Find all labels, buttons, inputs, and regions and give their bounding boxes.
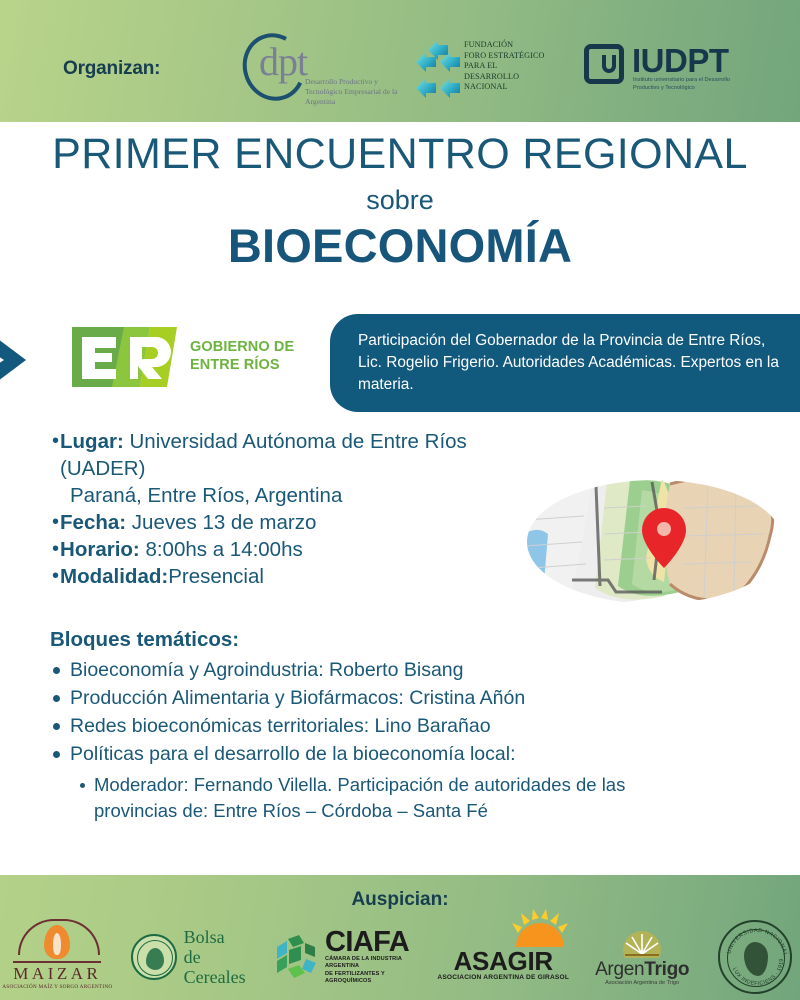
er-logo-icon — [72, 327, 177, 387]
er-government-label: GOBIERNO DE ENTRE RÍOS — [190, 338, 294, 374]
entre-rios-banner: GOBIERNO DE ENTRE RÍOS Participación del… — [0, 312, 800, 404]
detail-key: Lugar: — [60, 430, 124, 453]
ciafa-subtitle-1: CÁMARA DE LA INDUSTRIA ARGENTINA — [325, 956, 417, 971]
argentrigo-subtitle: Asociación Argentina de Trigo — [605, 980, 679, 986]
unl-seal-icon: UNIVERSIDAD NACIONAL DEL LITORAL LUX IND… — [718, 920, 792, 994]
bullet-icon: • — [52, 428, 59, 455]
iudpt-wordmark: IUDPT — [632, 42, 729, 80]
sponsor-ciafa: CIAFA CÁMARA DE LA INDUSTRIA ARGENTINA D… — [271, 919, 417, 995]
dpt-subtitle: Desarrollo Productivo y Tecnológico Empr… — [305, 77, 405, 107]
title-zone: PRIMER ENCUENTRO REGIONAL sobre BIOECONO… — [0, 130, 800, 273]
maizar-subtitle: ASOCIACIÓN MAÍZ Y SORGO ARGENTINO — [2, 984, 112, 990]
footer-band: Auspician: MAIZAR ASOCIACIÓN MAÍZ Y SORG… — [0, 875, 800, 1000]
header-band: Organizan: dpt Desarrollo Productivo y T… — [0, 0, 800, 122]
ciafa-subtitle-2: DE FERTILIZANTES Y AGROQUÍMICOS — [325, 971, 417, 986]
block-item-label: Redes bioeconómicas territoriales: Lino … — [70, 712, 491, 740]
sponsor-universidad-nacional-del-litoral: UNIVERSIDAD NACIONAL DEL LITORAL LUX IND… — [711, 919, 800, 995]
argentrigo-wheat-icon — [619, 928, 665, 958]
sponsor-asagir: ASAGIR ASOCIACION ARGENTINA DE GIRASOL — [433, 919, 574, 995]
detail-value: Presencial — [168, 565, 264, 588]
poster-topic: BIOECONOMÍA — [0, 218, 800, 273]
svg-text:UNIVERSIDAD NACIONAL DEL LITOR: UNIVERSIDAD NACIONAL DEL LITORAL — [720, 922, 788, 958]
asagir-sun-icon — [512, 909, 568, 947]
bullet-dot-icon — [53, 667, 60, 674]
detail-key: Modalidad: — [60, 565, 168, 588]
detail-lugar: • Lugar: Universidad Autónoma de Entre R… — [52, 428, 522, 482]
detail-value: 8:00hs a 14:00hs — [140, 538, 303, 561]
svg-text:LUX INDEFICIENS · 1919: LUX INDEFICIENS · 1919 — [731, 958, 785, 987]
bullet-dot-icon — [53, 723, 60, 730]
block-sub-item-label: Moderador: Fernando Vilella. Participaci… — [94, 772, 650, 824]
block-item-label: Producción Alimentaria y Biofármacos: Cr… — [70, 684, 525, 712]
iudpt-logo: IUDPT Instituto universitario para el De… — [584, 44, 749, 99]
iudpt-subtitle: Instituto universitario para el Desarrol… — [633, 77, 745, 92]
dpt-logo: dpt Desarrollo Productivo y Tecnológico … — [243, 33, 403, 115]
iudpt-u-icon — [584, 44, 624, 84]
bullet-dot-icon — [80, 783, 85, 788]
foro-arrows-icon — [414, 42, 460, 98]
bullet-icon: • — [52, 536, 59, 563]
block-item-label: Bioeconomía y Agroindustria: Roberto Bis… — [70, 656, 463, 684]
detail-key: Fecha: — [60, 511, 126, 534]
unl-ring-text: UNIVERSIDAD NACIONAL DEL LITORAL LUX IND… — [720, 922, 794, 996]
ciafa-text: CIAFA CÁMARA DE LA INDUSTRIA ARGENTINA D… — [325, 929, 417, 986]
iudpt-u-inner-icon — [602, 55, 616, 73]
ciafa-wordmark: CIAFA — [325, 929, 417, 956]
sponsor-maizar: MAIZAR ASOCIACIÓN MAÍZ Y SORGO ARGENTINO — [0, 919, 115, 995]
block-item: Redes bioeconómicas territoriales: Lino … — [50, 712, 650, 740]
location-map — [512, 468, 797, 616]
detail-lugar-continuation: Paraná, Entre Ríos, Argentina — [52, 482, 522, 509]
fundacion-foro-logo: FUNDACIÓN FORO ESTRATÉGICO PARA EL DESAR… — [414, 40, 564, 102]
bullet-dot-icon — [53, 695, 60, 702]
argentrigo-wordmark: ArgenTrigo — [595, 959, 689, 980]
sponsor-argentrigo: ArgenTrigo Asociación Argentina de Trigo — [590, 919, 695, 995]
event-poster: Organizan: dpt Desarrollo Productivo y T… — [0, 0, 800, 1000]
block-item: Producción Alimentaria y Biofármacos: Cr… — [50, 684, 650, 712]
asagir-subtitle: ASOCIACION ARGENTINA DE GIRASOL — [437, 974, 569, 981]
bullet-icon: • — [52, 509, 59, 536]
detail-key: Horario: — [60, 538, 140, 561]
detail-fecha: • Fecha: Jueves 13 de marzo — [52, 509, 522, 536]
detail-horario: • Horario: 8:00hs a 14:00hs — [52, 536, 522, 563]
block-item: Bioeconomía y Agroindustria: Roberto Bis… — [50, 656, 650, 684]
bolsa-seal-icon — [131, 934, 177, 980]
blocks-title: Bloques temáticos: — [50, 628, 650, 652]
detail-modalidad: • Modalidad:Presencial — [52, 563, 522, 590]
detail-value: Jueves 13 de marzo — [126, 511, 316, 534]
poster-title-connector: sobre — [0, 185, 800, 216]
asagir-wordmark: ASAGIR — [454, 948, 553, 974]
sponsor-bolsa-de-cereales: Bolsa de Cereales — [131, 919, 255, 995]
poster-title: PRIMER ENCUENTRO REGIONAL — [0, 130, 800, 179]
sponsor-logos: MAIZAR ASOCIACIÓN MAÍZ Y SORGO ARGENTINO… — [0, 917, 800, 997]
bullet-dot-icon — [53, 751, 60, 758]
block-item: Políticas para el desarrollo de la bioec… — [50, 740, 650, 768]
event-details: • Lugar: Universidad Autónoma de Entre R… — [52, 428, 522, 590]
block-item-label: Políticas para el desarrollo de la bioec… — [70, 740, 516, 768]
block-sub-item: Moderador: Fernando Vilella. Participaci… — [80, 772, 650, 824]
maizar-wordmark: MAIZAR — [13, 961, 101, 984]
ciafa-mark-icon — [271, 933, 319, 981]
bolsa-head-icon — [146, 948, 164, 970]
dpt-wordmark: dpt — [259, 38, 307, 85]
thematic-blocks: Bloques temáticos: Bioeconomía y Agroind… — [50, 628, 650, 824]
bullet-icon: • — [52, 563, 59, 590]
organizan-label: Organizan: — [63, 58, 160, 80]
foro-subtitle: FUNDACIÓN FORO ESTRATÉGICO PARA EL DESAR… — [464, 40, 564, 93]
bolsa-wordmark: Bolsa de Cereales — [184, 927, 255, 987]
governor-note: Participación del Gobernador de la Provi… — [330, 314, 800, 412]
auspician-label: Auspician: — [0, 889, 800, 911]
unl-figure-icon — [744, 942, 768, 976]
